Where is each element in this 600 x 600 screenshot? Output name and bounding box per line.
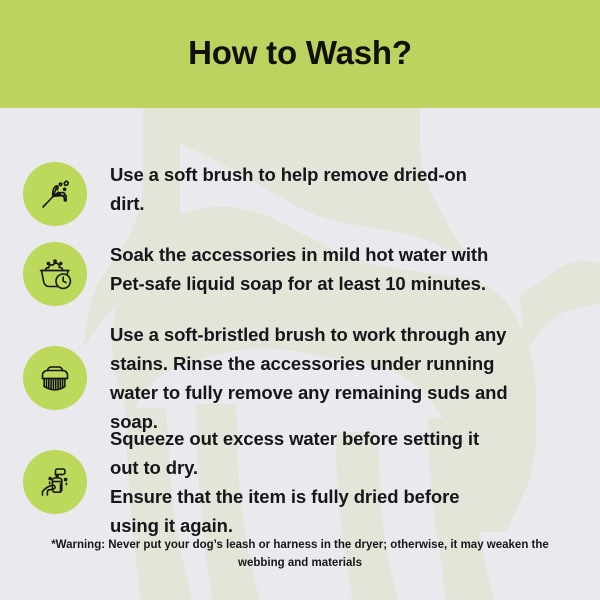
step-item-1: Use a soft brush to help remove dried-on… [0,160,600,226]
step-item-4: Squeeze out excess water before setting … [0,424,600,540]
step-icon-badge-1 [23,162,87,226]
infographic-card: How to Wash? [0,0,600,600]
wash-basin-clock-icon [34,253,76,295]
feather-duster-icon [34,173,76,215]
warning-note: *Warning: Never put your dog’s leash or … [0,536,600,572]
spray-bottle-hand-icon [34,461,76,503]
step-text-1: Use a soft brush to help remove dried-on… [110,160,600,218]
step-icon-wrap-2 [0,240,110,306]
scrub-brush-icon [34,357,76,399]
step-item-3: Use a soft-bristled brush to work throug… [0,320,600,436]
step-icon-badge-2 [23,242,87,306]
header-bar: How to Wash? [0,0,600,108]
step-icon-badge-4 [23,450,87,514]
step-text-2: Soak the accessories in mild hot water w… [110,240,600,298]
step-icon-wrap-4 [0,424,110,514]
step-icon-badge-3 [23,346,87,410]
step-item-2: Soak the accessories in mild hot water w… [0,240,600,306]
step-icon-wrap-1 [0,160,110,226]
page-title: How to Wash? [188,36,412,73]
step-text-4: Squeeze out excess water before setting … [110,424,600,540]
step-icon-wrap-3 [0,320,110,410]
step-text-3: Use a soft-bristled brush to work throug… [110,320,600,436]
